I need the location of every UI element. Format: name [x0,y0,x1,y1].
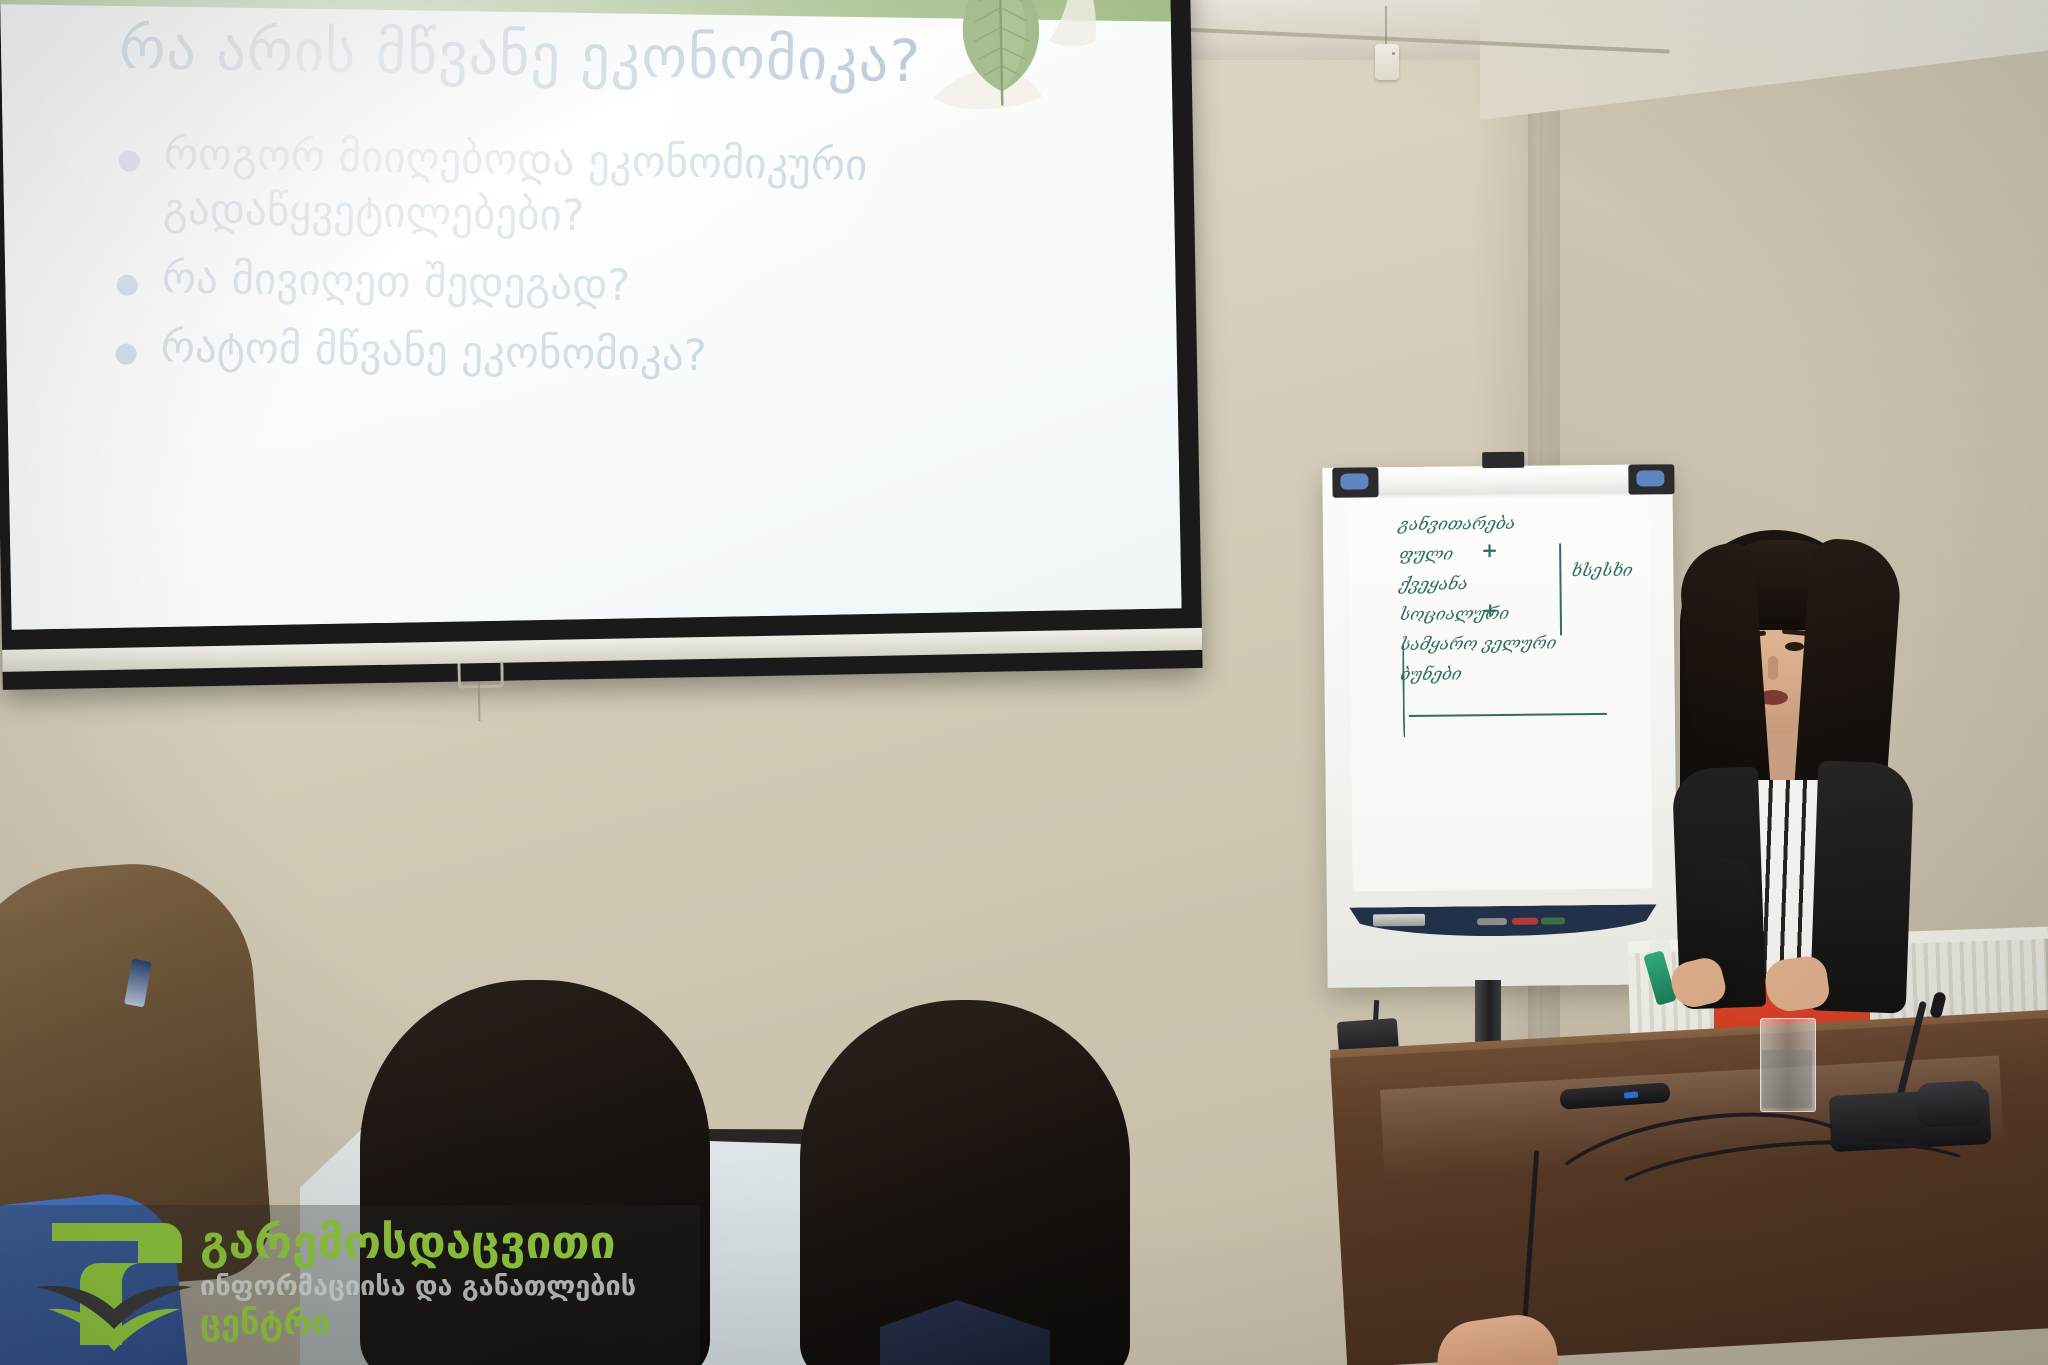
flipchart-clamp-left-icon[interactable] [1332,467,1378,497]
flipchart-hook-icon [1482,452,1524,468]
remote-button-icon[interactable] [1624,1092,1638,1099]
projection-screen: რა არის მწვანე ეკონომიკა? როგორ მიიღებოდ… [0,0,1213,690]
bullet-dot-icon [119,151,140,172]
bracket-icon [1402,645,1405,737]
sensor-wire [1385,6,1387,46]
bullet-text: რატომ მწვანე ეკონომიკა? [160,320,707,384]
plus-sign-icon: + [1481,538,1498,562]
watermark-line-1: გარემოსდაცვითი [200,1219,690,1265]
flipchart-side-note: ხსესხი [1570,563,1634,581]
slide-bullet-3: რატომ მწვანე ეკონომიკა? [115,320,1046,390]
slide: რა არის მწვანე ეკონომიკა? როგორ მიიღებოდ… [0,0,1182,630]
watermark-line-2: ინფორმაციისა და განათლების [200,1273,690,1300]
screenshot-root: რა არის მწვანე ეკონომიკა? როგორ მიიღებოდ… [0,0,2048,1365]
open-book-logo-icon [34,1217,194,1357]
presenter [1630,540,1950,1040]
marker-icon[interactable] [1541,917,1565,924]
presenter-eye [1785,642,1804,651]
slide-bullets: როგორ მიიღებოდა ეკონომიკური გადაწყვეტილე… [115,127,1049,405]
screen-pull-handle-icon[interactable] [457,663,503,689]
slide-bullet-2: რა მივიღეთ შედეგად? [116,251,1047,321]
watermark-text: გარემოსდაცვითი ინფორმაციისა და განათლები… [200,1219,690,1340]
water-level [1762,1050,1812,1108]
screen-surface: რა არის მწვანე ეკონომიკა? როგორ მიიღებოდ… [0,0,1182,630]
bullet-text: რა მივიღეთ შედეგად? [161,251,630,314]
marker-icon[interactable] [1477,918,1507,925]
plus-sign-icon: + [1482,598,1499,622]
flipchart-paper-roll [1346,468,1646,493]
presenter-nose [1768,656,1778,680]
marker-icon[interactable] [1512,918,1538,925]
flipchart-line-1: განვითარება [1398,514,1670,534]
flipchart-paper: განვითარება ფული ქვეყანა სოციალური სამყა… [1348,478,1652,891]
watermark-line-3: ცენტრი [200,1306,690,1340]
wall-sensor-icon [1375,44,1399,80]
flipchart-underline [1409,713,1607,717]
bullet-text: როგორ მიიღებოდა ეკონომიკური გადაწყვეტილე… [163,127,1050,252]
bullet-dot-icon [117,275,138,296]
flipchart-clamp-right-icon[interactable] [1628,464,1674,494]
watermark-logo: გარემოსდაცვითი ინფორმაციისა და განათლები… [0,1205,700,1365]
flipchart-board: განვითარება ფული ქვეყანა სოციალური სამყა… [1322,464,1677,988]
slide-bullet-1: როგორ მიიღებოდა ეკონომიკური გადაწყვეტილე… [118,127,1050,252]
bullet-dot-icon [115,344,136,365]
slide-title: რა არის მწვანე ეკონომიკა? [119,14,1020,97]
eraser-icon[interactable] [1373,914,1425,927]
microphone-speaker [1917,1080,1985,1127]
